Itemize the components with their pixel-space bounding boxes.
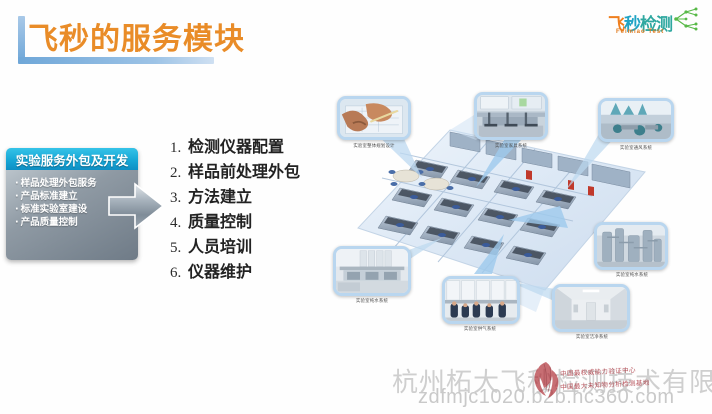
list-item-index: 3. [170,190,188,207]
photo-cleanroom-image [555,287,627,329]
list-item-label: 产品质量控制 [21,217,78,228]
logo-network-icon [674,6,704,32]
list-item: 5. 人员培训 [170,233,330,257]
bullet-icon: · [15,178,19,189]
photo-furniture-image [477,95,545,137]
callout-tail [452,230,512,280]
title-bracket-vertical [18,16,25,62]
list-item-label: 仪器维护 [188,258,252,282]
list-item-label: 产品标准建立 [21,191,78,202]
photo-furniture[interactable] [474,92,548,140]
list-item-index: 4. [170,215,188,232]
photo-water-caption: 实验室纯水系统 [590,272,674,278]
photo-design[interactable] [337,96,411,140]
right-arrow-icon [105,175,167,237]
list-item-index: 2. [170,165,188,182]
page-title: 飞秒的服务模块 [28,14,245,58]
photo-bench-image [336,249,408,293]
service-outsourcing-header: 实验服务外包及开发 [6,148,138,170]
photo-water[interactable] [594,222,668,270]
list-item-label: 标准实验室建设 [21,204,88,215]
list-item-label: 人员培训 [188,233,252,257]
title-bracket-horizontal [18,57,214,64]
photo-water-image [597,225,665,267]
photo-cleanroom-caption: 实验室洁净系统 [550,334,634,340]
photo-bench-caption: 实验室纯水系统 [330,298,414,304]
feimiao-test-logo: 飞秒检测 Feimiao Test [600,4,704,44]
photo-design-caption: 实验室整体规划设计 [332,143,416,149]
slide-canvas: 飞秒检测 Feimiao Test 飞秒的服务模块 实验服务外包及开 [0,0,712,414]
photo-ventilation[interactable] [598,98,674,142]
photo-gas-image [445,279,517,321]
list-item: 6. 仪器维护 [170,258,330,282]
list-item-index: 6. [170,265,188,282]
bullet-icon: · [15,191,19,202]
photo-gas[interactable] [442,276,520,324]
photo-design-image [340,99,408,137]
red-seal-stamp: 中国最权威能力验证中心 中国最大未知物分析检测基地 [524,358,656,404]
list-item: 1. 检测仪器配置 [170,133,330,157]
list-item-label: 样品前处理外包 [188,158,300,182]
photo-cleanroom[interactable] [552,284,630,332]
list-item-index: 5. [170,240,188,257]
seal-text-line2: 中国最大未知物分析检测基地 [560,377,650,392]
list-item-index: 1. [170,140,188,157]
photo-bench[interactable] [333,246,411,296]
photo-gas-caption: 实验室供气系统 [438,326,522,332]
logo-subtitle: Feimiao Test [616,29,664,35]
service-number-list: 1. 检测仪器配置 2. 样品前处理外包 3. 方法建立 4. 质量控制 5. … [170,133,330,283]
photo-ventilation-caption: 实验室通风系统 [594,145,678,151]
photo-ventilation-image [601,101,671,139]
bullet-icon: · [15,217,19,228]
seal-text-line1: 中国最权威能力验证中心 [560,364,636,378]
list-item: 4. 质量控制 [170,208,330,232]
list-item-label: 样品处理外包服务 [21,178,97,189]
bullet-icon: · [15,204,19,215]
photo-furniture-caption: 实验室家具系统 [469,143,553,149]
list-item-label: 质量控制 [188,208,252,232]
list-item-label: 方法建立 [188,183,252,207]
list-item-label: 检测仪器配置 [188,133,284,157]
list-item: 3. 方法建立 [170,183,330,207]
list-item: 2. 样品前处理外包 [170,158,330,182]
